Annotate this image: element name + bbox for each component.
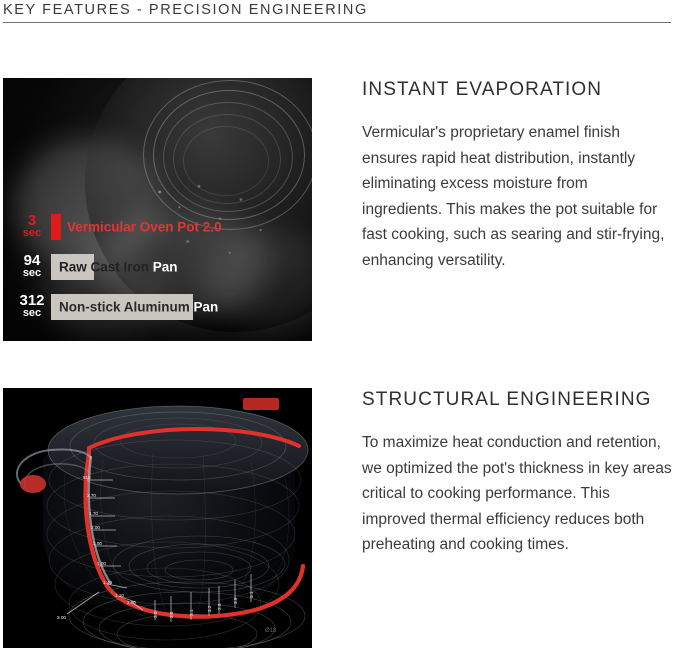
svg-text:3.00: 3.00 — [57, 615, 66, 620]
lid-knob-red-accent — [243, 398, 279, 410]
feature-copy-instant-evaporation: INSTANT EVAPORATION Vermicular's proprie… — [362, 78, 672, 273]
base-diameter-label: Ø18 — [265, 628, 277, 634]
svg-text:2.00: 2.00 — [91, 525, 100, 530]
bar-track: Non-stick Aluminum Pan — [51, 294, 303, 320]
bar-label-head: Non-stick Aluminum — [59, 300, 190, 315]
svg-text:2.5: 2.5 — [217, 603, 222, 610]
bar-value-unit: sec — [13, 267, 51, 280]
bar-track: Raw Cast Iron Pan — [51, 254, 303, 280]
svg-text:1.10: 1.10 — [115, 593, 124, 598]
feature-heading: STRUCTURAL ENGINEERING — [362, 388, 672, 412]
evaporation-time-bar-chart: 3 sec Vermicular Oven Pot 2.0 94 sec Raw… — [13, 207, 303, 327]
svg-text:1.40: 1.40 — [103, 580, 112, 585]
svg-text:1.00: 1.00 — [97, 561, 106, 566]
svg-text:2.70: 2.70 — [87, 493, 96, 498]
bar-value-unit: sec — [13, 227, 51, 240]
chart-bar-row: 94 sec Raw Cast Iron Pan — [13, 247, 303, 287]
bar-category-label: Raw Cast Iron Pan — [59, 260, 178, 275]
bar-category-label: Vermicular Oven Pot 2.0 — [67, 220, 222, 235]
svg-text:3.2: 3.2 — [207, 605, 212, 612]
bar-value-number: 312 — [13, 294, 51, 307]
svg-text:1.70: 1.70 — [89, 511, 98, 516]
section-header: KEY FEATURES - PRECISION ENGINEERING — [3, 0, 671, 23]
svg-text:1.00: 1.00 — [93, 541, 102, 546]
bar-label-tail: Pan — [190, 300, 219, 315]
bar-track: Vermicular Oven Pot 2.0 — [51, 214, 303, 240]
svg-text:815: 815 — [83, 475, 91, 480]
bar-value-number: 94 — [13, 254, 51, 267]
handle-red-accent — [20, 475, 46, 493]
cad-wireframe-svg: 815 2.70 1.70 2.00 1.00 1.00 1.40 1.10 2… — [3, 388, 312, 648]
chart-bar-row: 3 sec Vermicular Oven Pot 2.0 — [13, 207, 303, 247]
chart-bar-row: 312 sec Non-stick Aluminum Pan — [13, 287, 303, 327]
bar-fill-vermicular — [51, 214, 61, 240]
header-divider — [3, 22, 671, 23]
feature-body-text: Vermicular's proprietary enamel finish e… — [362, 120, 672, 273]
bar-value-label: 312 sec — [13, 294, 51, 320]
svg-text:2.8: 2.8 — [169, 611, 174, 618]
feature-body-text: To maximize heat conduction and retentio… — [362, 430, 672, 558]
feature-copy-structural-engineering: STRUCTURAL ENGINEERING To maximize heat … — [362, 388, 672, 558]
bar-value-label: 3 sec — [13, 214, 51, 240]
bar-value-number: 3 — [13, 214, 51, 227]
page-title: KEY FEATURES - PRECISION ENGINEERING — [3, 0, 671, 20]
svg-text:3.1: 3.1 — [189, 609, 194, 616]
feature-image-instant-evaporation: 3 sec Vermicular Oven Pot 2.0 94 sec Raw… — [3, 78, 312, 341]
bar-label-tail: Pan — [149, 260, 178, 275]
svg-text:2.70: 2.70 — [127, 600, 136, 605]
bar-value-label: 94 sec — [13, 254, 51, 280]
cad-wireframe-photo: 815 2.70 1.70 2.00 1.00 1.00 1.40 1.10 2… — [3, 388, 312, 648]
svg-text:3.1: 3.1 — [249, 591, 254, 598]
svg-text:3.9: 3.9 — [233, 597, 238, 604]
feature-heading: INSTANT EVAPORATION — [362, 78, 672, 102]
bar-category-label: Non-stick Aluminum Pan — [59, 300, 218, 315]
bar-label-head: Raw Cast Iron — [59, 260, 149, 275]
svg-text:3.0: 3.0 — [153, 611, 158, 618]
feature-image-structural-engineering: 815 2.70 1.70 2.00 1.00 1.00 1.40 1.10 2… — [3, 388, 312, 648]
